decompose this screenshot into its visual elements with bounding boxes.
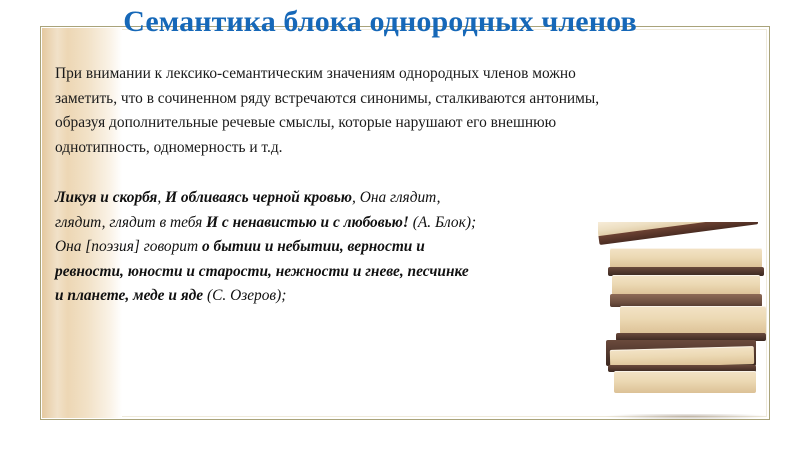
quote-emphasis: и планете, меде и яде xyxy=(55,287,203,304)
book-pages xyxy=(614,371,756,393)
page-title: Семантика блока однородных членов xyxy=(48,4,712,40)
book-pages xyxy=(620,306,766,334)
quote-attribution: (С. Озеров); xyxy=(203,287,286,304)
books-shadow xyxy=(604,414,770,420)
quote-emphasis: о бытии и небытии, верности и xyxy=(202,238,425,255)
quote-emphasis: ревности, юности и старости, нежности и … xyxy=(55,263,469,280)
body-paragraph: При внимании к лексико-семантическим зна… xyxy=(55,62,600,160)
quote-plain: , Она глядит, xyxy=(352,189,440,206)
quote-plain: , xyxy=(157,189,165,206)
quote-plain: Она [поэзия] говорит xyxy=(55,238,202,255)
quote-attribution: (А. Блок); xyxy=(409,214,476,231)
quote-plain: глядит, глядит в тебя xyxy=(55,214,206,231)
quote-emphasis: И с ненавистью и с любовью! xyxy=(206,214,409,231)
book-pages xyxy=(610,248,762,268)
quote-emphasis: Ликуя и скорбя xyxy=(55,189,157,206)
quote-line-1: Ликуя и скорбя, И обливаясь черной кровь… xyxy=(55,186,625,211)
quote-emphasis: И обливаясь черной кровью xyxy=(165,189,352,206)
presentation-slide: Семантика блока однородных членов При вн… xyxy=(0,0,800,449)
book-top-tilted xyxy=(598,222,759,248)
quote-line-3: Она [поэзия] говорит о бытии и небытии, … xyxy=(55,235,625,260)
quote-block: Ликуя и скорбя, И обливаясь черной кровь… xyxy=(55,186,625,309)
book-pages xyxy=(612,275,760,295)
quote-line-4: ревности, юности и старости, нежности и … xyxy=(55,260,625,285)
stack-of-books-image xyxy=(598,222,776,420)
quote-line-2: глядит, глядит в тебя И с ненавистью и с… xyxy=(55,211,625,236)
quote-line-5: и планете, меде и яде (С. Озеров); xyxy=(55,284,625,309)
